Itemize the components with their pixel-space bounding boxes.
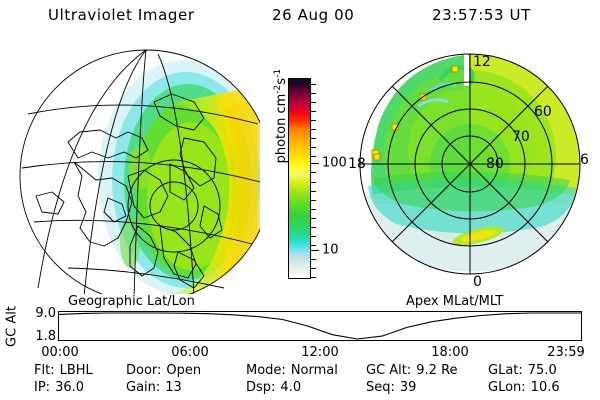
apex-polar-panel[interactable]: 12 6 0 18 60 70 80 xyxy=(344,46,596,294)
colorbar-minor-tick xyxy=(310,277,316,278)
colorbar-unit-mid: s xyxy=(274,78,289,85)
colorbar-minor-tick xyxy=(310,102,316,103)
colorbar-major-tick xyxy=(310,163,319,164)
status-glon: GLon:10.6 xyxy=(488,380,560,395)
colorbar-minor-tick xyxy=(310,245,316,246)
status-flt-value: LBHL xyxy=(60,363,93,378)
status-dsp: Dsp:4.0 xyxy=(246,380,301,395)
status-ip-value: 36.0 xyxy=(55,380,84,395)
instrument-title: Ultraviolet Imager xyxy=(48,6,195,24)
altitude-curve xyxy=(59,312,581,340)
colorbar-minor-tick xyxy=(310,227,316,228)
colorbar-minor-tick xyxy=(310,172,316,173)
status-glon-key: GLon: xyxy=(488,380,526,395)
apex-aurora-image: 12 6 0 18 60 70 80 xyxy=(344,46,596,294)
status-glat-key: GLat: xyxy=(488,363,523,378)
colorbar-minor-tick xyxy=(310,111,316,112)
status-mode-key: Mode: xyxy=(246,363,286,378)
status-glat: GLat:75.0 xyxy=(488,363,557,378)
colorbar-minor-tick xyxy=(310,120,316,121)
altitude-ytick-low: 1.8 xyxy=(26,329,56,344)
altitude-plot-box xyxy=(58,311,582,341)
mlt-label-12: 12 xyxy=(473,54,491,70)
status-footer: Flt:LBHL IP:36.0 Door:Open Gain:13 Mode:… xyxy=(0,363,600,399)
colorbar-minor-tick xyxy=(310,200,316,201)
colorbar-unit-exp1: -2 xyxy=(273,85,283,94)
colorbar-minor-tick xyxy=(310,129,316,130)
status-glat-value: 75.0 xyxy=(528,363,557,378)
colorbar-tick-label: 10 xyxy=(322,243,339,256)
status-door-value: Open xyxy=(166,363,201,378)
status-gc-alt: GC Alt:9.2 Re xyxy=(366,363,458,378)
geographic-aurora-image xyxy=(8,46,260,294)
colorbar-minor-tick xyxy=(310,218,316,219)
mlt-label-6: 6 xyxy=(580,152,589,168)
altitude-time-tick-label: 23:59 xyxy=(547,345,584,360)
status-gc-alt-key: GC Alt: xyxy=(366,363,411,378)
mlt-label-18: 18 xyxy=(348,156,366,172)
status-flt: Flt:LBHL xyxy=(34,363,93,378)
status-gain: Gain:13 xyxy=(126,380,182,395)
altitude-time-axis: 00:0006:0012:0018:0023:59 xyxy=(0,345,600,361)
status-door-key: Door: xyxy=(126,363,161,378)
uvi-summary-screen: Ultraviolet Imager 26 Aug 00 23:57:53 UT xyxy=(0,0,600,400)
colorbar-ticks: 10010 xyxy=(310,78,340,279)
colorbar-minor-tick xyxy=(310,147,316,148)
observation-time: 23:57:53 UT xyxy=(432,6,531,24)
colorbar-unit-exp2: -1 xyxy=(273,69,283,78)
status-dsp-value: 4.0 xyxy=(280,380,301,395)
status-seq-key: Seq: xyxy=(366,380,395,395)
colorbar-minor-tick xyxy=(310,93,316,94)
altitude-time-tick-label: 18:00 xyxy=(431,345,468,360)
status-mode-value: Normal xyxy=(291,363,338,378)
mlat-label-80: 80 xyxy=(486,156,504,172)
colorbar-minor-tick xyxy=(310,268,316,269)
status-gain-key: Gain: xyxy=(126,380,160,395)
status-ip: IP:36.0 xyxy=(34,380,84,395)
status-gain-value: 13 xyxy=(165,380,182,395)
colorbar-minor-tick xyxy=(310,156,316,157)
colorbar-minor-tick xyxy=(310,209,316,210)
colorbar-unit-text: photon cm xyxy=(274,94,289,164)
colorbar-gradient xyxy=(288,78,311,279)
altitude-ytick-high: 9.0 xyxy=(26,306,56,321)
altitude-time-tick-label: 12:00 xyxy=(301,345,338,360)
status-ip-key: IP: xyxy=(34,380,50,395)
colorbar-minor-tick xyxy=(310,182,316,183)
status-seq: Seq:39 xyxy=(366,380,416,395)
colorbar-minor-tick xyxy=(310,84,316,85)
colorbar-group: 10010 photon cm-2s-1 xyxy=(262,46,340,294)
status-gc-alt-value: 9.2 Re xyxy=(416,363,457,378)
colorbar-major-tick xyxy=(310,250,319,251)
altitude-time-tick-label: 06:00 xyxy=(171,345,208,360)
colorbar-axis-label: photon cm-2s-1 xyxy=(273,41,289,191)
status-dsp-key: Dsp: xyxy=(246,380,275,395)
altitude-time-tick-label: 00:00 xyxy=(41,345,78,360)
altitude-strip-chart[interactable]: GC Alt 9.0 1.8 00:0006:0012:0018:0023:59 xyxy=(0,305,600,355)
status-seq-value: 39 xyxy=(400,380,417,395)
colorbar-minor-tick xyxy=(310,259,316,260)
observation-date: 26 Aug 00 xyxy=(272,6,354,24)
status-door: Door:Open xyxy=(126,363,201,378)
status-mode: Mode:Normal xyxy=(246,363,338,378)
mlt-label-0: 0 xyxy=(473,274,482,290)
status-glon-value: 10.6 xyxy=(531,380,560,395)
status-flt-key: Flt: xyxy=(34,363,55,378)
geographic-image-panel[interactable] xyxy=(8,46,260,294)
mlat-label-70: 70 xyxy=(512,129,530,145)
colorbar-minor-tick xyxy=(310,191,316,192)
mlat-label-60: 60 xyxy=(534,104,552,120)
colorbar-minor-tick xyxy=(310,236,316,237)
colorbar-minor-tick xyxy=(310,138,316,139)
